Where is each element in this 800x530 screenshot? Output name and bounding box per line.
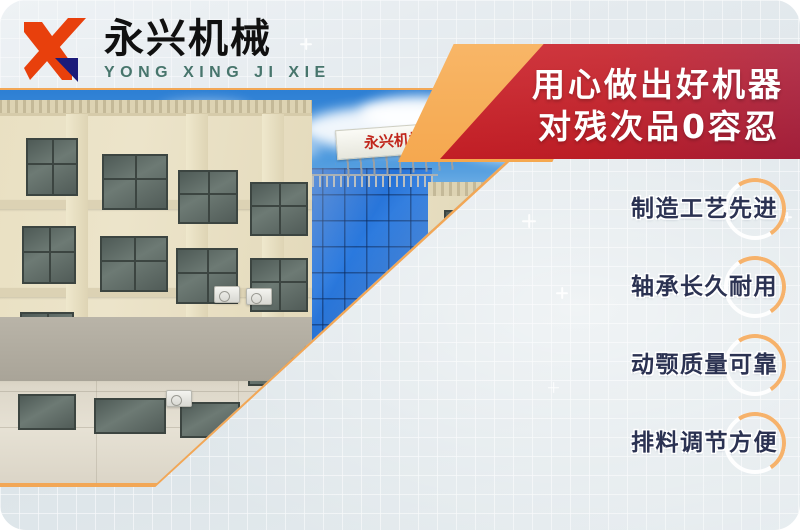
- photo-vehicle-suv: [352, 390, 468, 460]
- photo-lantern: [306, 396, 318, 410]
- photo-hedge: [268, 416, 376, 438]
- feature-list: 制造工艺先进 轴承长久耐用 动颚质量可靠 排料调节方便: [540, 170, 800, 500]
- photo-entrance: [296, 380, 440, 384]
- x-monogram-logo-icon: [22, 14, 90, 86]
- promo-banner: 永兴机械 YONG XING JI XIE: [0, 0, 800, 530]
- brand-logo-block: 永兴机械 YONG XING JI XIE: [22, 14, 331, 86]
- feature-item-2: 轴承长久耐用: [540, 248, 800, 326]
- headline-text-block: 用心做出好机器 对残次品0容忍: [440, 44, 800, 159]
- photo-ac-unit: [452, 268, 478, 285]
- sparkle-icon: [522, 214, 536, 228]
- photo-ac-unit: [246, 288, 272, 305]
- feature-item-3: 动颚质量可靠: [540, 326, 800, 404]
- brand-name-en: YONG XING JI XIE: [104, 63, 331, 83]
- feature-item-3-label: 动颚质量可靠: [631, 351, 778, 379]
- feature-item-2-label: 轴承长久耐用: [631, 273, 778, 301]
- headline-line-1: 用心做出好机器: [532, 64, 784, 106]
- brand-name-cn: 永兴机械: [104, 17, 331, 61]
- photo-entrance-stairs: [291, 466, 469, 483]
- photo-glass-building: [300, 168, 432, 381]
- feature-item-4: 排料调节方便: [540, 404, 800, 482]
- photo-office-building-left: [0, 114, 312, 381]
- photo-ac-unit: [214, 286, 240, 303]
- brand-wordmark: 永兴机械 YONG XING JI XIE: [104, 17, 331, 83]
- headline-line-2: 对残次品0容忍: [538, 106, 784, 148]
- photo-entrance-canopy: [292, 358, 442, 380]
- photo-lantern: [422, 396, 434, 410]
- feature-item-1: 制造工艺先进: [540, 170, 800, 248]
- feature-item-4-label: 排料调节方便: [631, 429, 778, 457]
- photo-ac-unit: [470, 330, 496, 347]
- photo-tree: [420, 376, 452, 424]
- feature-item-1-label: 制造工艺先进: [631, 195, 778, 223]
- photo-light-pole: [520, 348, 523, 444]
- photo-ac-unit: [300, 386, 326, 403]
- photo-ac-unit: [166, 390, 192, 407]
